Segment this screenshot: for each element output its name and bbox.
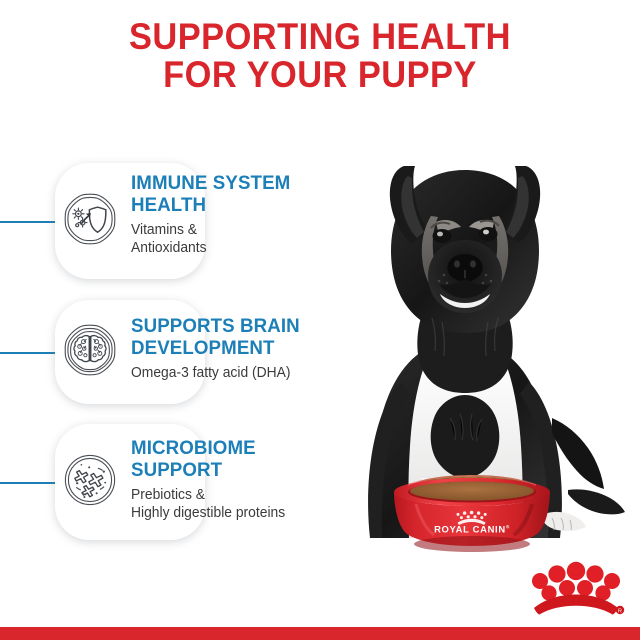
connector-line-brain	[0, 352, 56, 354]
page-title-line2: FOR YOUR PUPPY	[22, 56, 617, 94]
shield-virus-icon	[62, 191, 118, 247]
promo-graphic: SUPPORTING HEALTH FOR YOUR PUPPY	[0, 0, 640, 640]
page-title-line1: SUPPORTING HEALTH	[129, 16, 511, 57]
royal-canin-crown-logo: R	[524, 556, 628, 618]
registered-mark: R	[616, 606, 624, 615]
microbiome-bacteria-icon	[62, 452, 118, 508]
brain-icon	[62, 322, 118, 378]
bowl-brand-text: ROYAL CANIN®	[434, 524, 510, 535]
connector-line-microbiome	[0, 482, 56, 484]
bottom-brand-bar	[0, 627, 640, 640]
connector-line-immune	[0, 221, 56, 223]
page-title: SUPPORTING HEALTH FOR YOUR PUPPY	[22, 18, 617, 94]
svg-text:R: R	[618, 608, 622, 614]
dog-food-bowl: ROYAL CANIN®	[382, 470, 562, 558]
